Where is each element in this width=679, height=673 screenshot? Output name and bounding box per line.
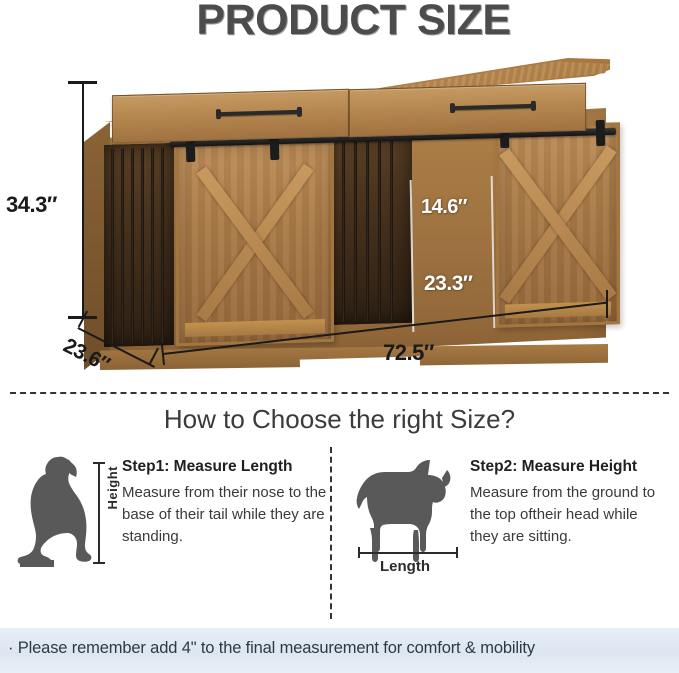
page-title: PRODUCT SIZE xyxy=(0,0,679,45)
product-size-infographic: PRODUCT SIZE 14.6″ 23.3″ xyxy=(0,0,679,673)
footer-note-bar: · Please remember add 4" to the final me… xyxy=(0,628,679,673)
height-dimension-line xyxy=(82,82,84,318)
length-measure-cap-left xyxy=(358,547,360,558)
howto-heading: How to Choose the right Size? xyxy=(0,404,679,435)
left-kennel-bars xyxy=(107,147,169,344)
left-barn-door xyxy=(176,140,334,346)
section-divider-horizontal xyxy=(10,392,669,394)
door-bottom-rail xyxy=(185,319,325,337)
length-measure-cap-right xyxy=(456,547,458,558)
sitting-dog-icon xyxy=(14,452,92,575)
door-hanger-icon xyxy=(596,120,606,146)
interior-width-label: 14.6″ xyxy=(421,196,467,219)
interior-height-label: 23.3″ xyxy=(424,272,472,296)
height-dimension-label: 34.3″ xyxy=(6,192,57,218)
right-drawer xyxy=(349,83,586,138)
length-measure-label: Length xyxy=(380,558,430,575)
step-1-body: Measure from their nose to the base of t… xyxy=(122,482,327,547)
height-measure-cap-bottom xyxy=(93,562,105,564)
step-2-body: Measure from the ground to the top ofthe… xyxy=(470,482,670,547)
step-2-title: Step2: Measure Height xyxy=(470,458,670,476)
section-divider-vertical xyxy=(330,447,332,619)
center-kennel-bars xyxy=(326,135,404,322)
height-cap-top xyxy=(68,81,97,84)
width-cap-right xyxy=(606,290,608,318)
height-measure-label: Height xyxy=(105,466,120,509)
left-drawer xyxy=(112,89,349,144)
right-barn-door xyxy=(496,122,620,327)
height-measure-cap-top xyxy=(93,462,105,464)
step-1-block: Height Step1: Measure Length Measure fro… xyxy=(14,452,324,575)
product-illustration: 14.6″ 23.3″ xyxy=(0,48,679,388)
x-brace-icon xyxy=(189,153,321,333)
step-2-block: Length Step2: Measure Height Measure fro… xyxy=(352,452,672,569)
height-measure-line xyxy=(98,462,100,564)
width-dimension-label: 72.5″ xyxy=(383,340,434,366)
step-1-title: Step1: Measure Length xyxy=(122,458,327,476)
length-measure-line xyxy=(358,552,458,554)
x-brace-icon xyxy=(509,136,607,315)
footer-note-text: · Please remember add 4" to the final me… xyxy=(0,628,679,658)
